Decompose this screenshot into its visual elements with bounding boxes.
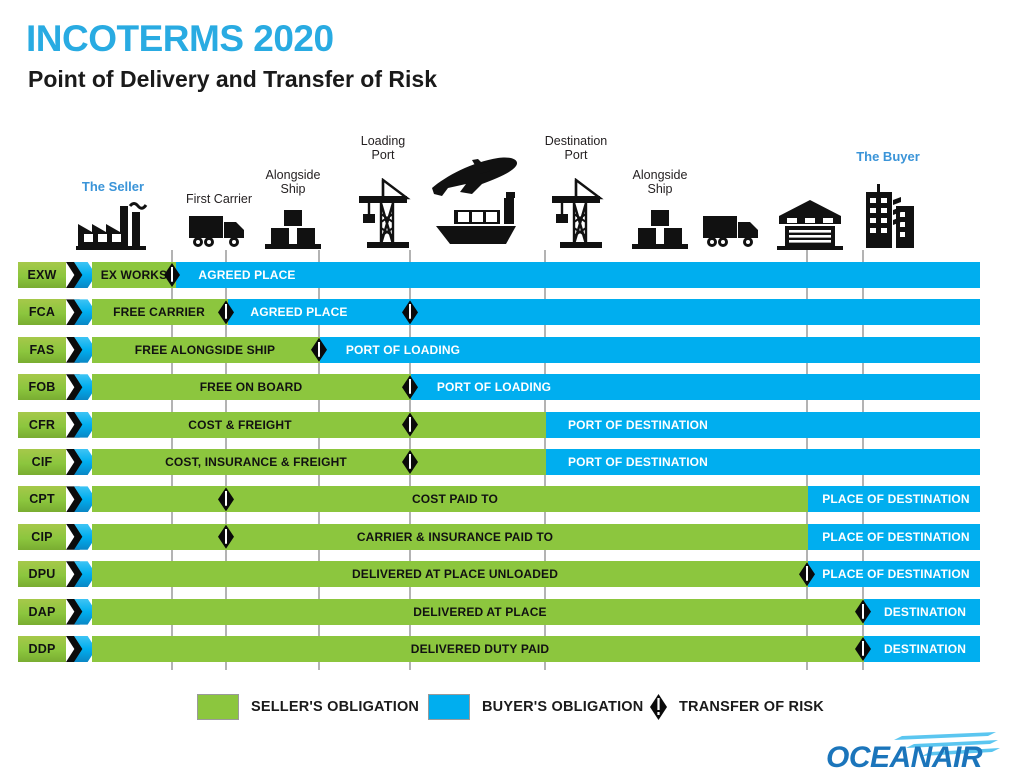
incoterm-code-ddp[interactable]: DDP — [18, 636, 66, 662]
seller-obligation-segment[interactable]: FREE ALONGSIDE SHIP — [92, 337, 320, 363]
buyer-segment-label: DESTINATION — [884, 605, 966, 619]
incoterm-code-exw[interactable]: EXW — [18, 262, 66, 288]
incoterm-row[interactable]: DDPDELIVERED DUTY PAIDDESTINATION — [0, 636, 1024, 662]
buyer-obligation-segment[interactable]: PORT OF LOADING — [320, 337, 980, 363]
incoterm-code-fas[interactable]: FAS — [18, 337, 66, 363]
chain-node-label: The Seller — [53, 180, 173, 195]
legend-label: BUYER'S OBLIGATION — [482, 699, 643, 715]
legend-item-risk: TRANSFER OF RISK — [650, 694, 824, 720]
incoterm-row[interactable]: CPTCOST PAID TOPLACE OF DESTINATION — [0, 486, 1024, 512]
incoterm-code-fca[interactable]: FCA — [18, 299, 66, 325]
incoterm-code-dap[interactable]: DAP — [18, 599, 66, 625]
incoterm-row[interactable]: CIPCARRIER & INSURANCE PAID TOPLACE OF D… — [0, 524, 1024, 550]
seller-segment-label: FREE CARRIER — [113, 305, 205, 319]
incoterm-code-cif[interactable]: CIF — [18, 449, 66, 475]
risk-diamond-icon — [164, 263, 180, 287]
seller-obligation-segment[interactable]: DELIVERED AT PLACE UNLOADED — [92, 561, 808, 587]
buyer-segment-label: PORT OF LOADING — [346, 343, 460, 357]
footer: OCEANAIR — [0, 726, 1024, 777]
risk-diamond-icon — [855, 637, 871, 661]
obligation-bar: DELIVERED AT PLACEDESTINATION — [92, 599, 980, 625]
seller-obligation-segment[interactable]: COST & FREIGHT — [92, 412, 546, 438]
seller-obligation-segment[interactable]: COST PAID TO — [92, 486, 808, 512]
buildings-icon — [828, 184, 948, 250]
buyer-obligation-segment[interactable]: PLACE OF DESTINATION — [808, 524, 980, 550]
risk-diamond-icon — [402, 300, 418, 324]
incoterm-row[interactable]: FOBFREE ON BOARDPORT OF LOADING — [0, 374, 1024, 400]
legend-label: TRANSFER OF RISK — [679, 699, 824, 715]
page-subtitle: Point of Delivery and Transfer of Risk — [28, 68, 437, 91]
factory-icon — [53, 198, 173, 250]
buyer-obligation-segment[interactable]: DESTINATION — [864, 599, 980, 625]
chain-node-label: The Buyer — [828, 150, 948, 165]
chain-node-factory: The Seller — [53, 128, 173, 250]
transfer-of-risk-marker — [402, 300, 418, 324]
incoterm-row[interactable]: CFRCOST & FREIGHTPORT OF DESTINATION — [0, 412, 1024, 438]
buyer-segment-label: PLACE OF DESTINATION — [822, 530, 969, 544]
oceanair-wordmark: OCEANAIR — [826, 741, 982, 775]
obligation-bar: FREE ALONGSIDE SHIPPORT OF LOADING — [92, 337, 980, 363]
buyer-obligation-segment[interactable]: PORT OF DESTINATION — [546, 449, 980, 475]
transfer-of-risk-marker — [855, 637, 871, 661]
buyer-segment-label: AGREED PLACE — [250, 305, 347, 319]
incoterm-code-cfr[interactable]: CFR — [18, 412, 66, 438]
seller-segment-label: COST, INSURANCE & FREIGHT — [165, 455, 347, 469]
buyer-segment-label: AGREED PLACE — [198, 268, 295, 282]
legend-item-blue: BUYER'S OBLIGATION — [428, 694, 643, 720]
transfer-of-risk-marker — [218, 487, 234, 511]
transfer-of-risk-marker — [402, 450, 418, 474]
transfer-of-risk-marker — [402, 413, 418, 437]
buyer-obligation-segment[interactable]: PLACE OF DESTINATION — [808, 561, 980, 587]
buyer-obligation-segment[interactable]: PORT OF DESTINATION — [546, 412, 980, 438]
page-title: INCOTERMS 2020 — [26, 20, 334, 57]
transfer-of-risk-marker — [799, 562, 815, 586]
seller-segment-label: DELIVERED AT PLACE UNLOADED — [352, 567, 558, 581]
buyer-obligation-segment[interactable]: PORT OF LOADING — [411, 374, 980, 400]
risk-diamond-icon — [311, 338, 327, 362]
obligation-bar: COST & FREIGHTPORT OF DESTINATION — [92, 412, 980, 438]
incoterm-code-cip[interactable]: CIP — [18, 524, 66, 550]
chart-legend: SELLER'S OBLIGATIONBUYER'S OBLIGATION TR… — [0, 692, 1024, 726]
transfer-of-risk-marker — [218, 300, 234, 324]
transfer-of-risk-marker — [855, 600, 871, 624]
seller-segment-label: DELIVERED DUTY PAID — [411, 642, 549, 656]
risk-diamond-icon — [218, 525, 234, 549]
transfer-of-risk-marker — [164, 263, 180, 287]
seller-segment-label: CARRIER & INSURANCE PAID TO — [357, 530, 553, 544]
seller-segment-label: FREE ON BOARD — [200, 380, 303, 394]
obligation-bar: DELIVERED AT PLACE UNLOADEDPLACE OF DEST… — [92, 561, 980, 587]
seller-segment-label: EX WORKS — [101, 268, 168, 282]
obligation-bar: FREE ON BOARDPORT OF LOADING — [92, 374, 980, 400]
legend-swatch-green — [197, 694, 239, 720]
seller-segment-label: FREE ALONGSIDE SHIP — [135, 343, 275, 357]
seller-obligation-segment[interactable]: COST, INSURANCE & FREIGHT — [92, 449, 546, 475]
seller-segment-label: COST PAID TO — [412, 492, 498, 506]
buyer-obligation-segment[interactable]: AGREED PLACE — [176, 262, 980, 288]
risk-diamond-icon — [855, 600, 871, 624]
risk-diamond-icon — [402, 450, 418, 474]
obligation-bar: FREE CARRIERAGREED PLACE — [92, 299, 980, 325]
seller-obligation-segment[interactable]: DELIVERED DUTY PAID — [92, 636, 864, 662]
risk-diamond-icon — [650, 694, 667, 720]
legend-label: SELLER'S OBLIGATION — [251, 699, 419, 715]
incoterm-row[interactable]: FASFREE ALONGSIDE SHIPPORT OF LOADING — [0, 337, 1024, 363]
risk-diamond-icon — [402, 413, 418, 437]
buyer-segment-label: PORT OF DESTINATION — [568, 418, 708, 432]
seller-obligation-segment[interactable]: FREE ON BOARD — [92, 374, 411, 400]
risk-diamond-icon — [218, 487, 234, 511]
buyer-obligation-segment[interactable]: AGREED PLACE — [228, 299, 980, 325]
obligation-bar: EX WORKSAGREED PLACE — [92, 262, 980, 288]
seller-segment-label: DELIVERED AT PLACE — [413, 605, 546, 619]
buyer-obligation-segment[interactable]: DESTINATION — [864, 636, 980, 662]
risk-diamond-icon — [799, 562, 815, 586]
buyer-segment-label: PORT OF DESTINATION — [568, 455, 708, 469]
seller-obligation-segment[interactable]: FREE CARRIER — [92, 299, 228, 325]
obligation-bar: COST, INSURANCE & FREIGHTPORT OF DESTINA… — [92, 449, 980, 475]
incoterm-code-dpu[interactable]: DPU — [18, 561, 66, 587]
transfer-of-risk-marker — [311, 338, 327, 362]
transfer-of-risk-marker — [218, 525, 234, 549]
seller-segment-label: COST & FREIGHT — [188, 418, 291, 432]
risk-diamond-icon — [402, 375, 418, 399]
incoterm-row[interactable]: DPUDELIVERED AT PLACE UNLOADEDPLACE OF D… — [0, 561, 1024, 587]
incoterm-code-cpt[interactable]: CPT — [18, 486, 66, 512]
obligation-bar: CARRIER & INSURANCE PAID TOPLACE OF DEST… — [92, 524, 980, 550]
chain-node-buildings: The Buyer — [828, 128, 948, 250]
obligation-bar: DELIVERED DUTY PAIDDESTINATION — [92, 636, 980, 662]
risk-diamond-icon — [218, 300, 234, 324]
buyer-segment-label: DESTINATION — [884, 642, 966, 656]
incoterm-code-fob[interactable]: FOB — [18, 374, 66, 400]
incoterm-row[interactable]: DAPDELIVERED AT PLACEDESTINATION — [0, 599, 1024, 625]
seller-obligation-segment[interactable]: CARRIER & INSURANCE PAID TO — [92, 524, 808, 550]
seller-obligation-segment[interactable]: DELIVERED AT PLACE — [92, 599, 864, 625]
buyer-segment-label: PLACE OF DESTINATION — [822, 567, 969, 581]
buyer-segment-label: PORT OF LOADING — [437, 380, 551, 394]
obligation-bar: COST PAID TOPLACE OF DESTINATION — [92, 486, 980, 512]
legend-item-green: SELLER'S OBLIGATION — [197, 694, 419, 720]
incoterm-row[interactable]: FCAFREE CARRIERAGREED PLACE — [0, 299, 1024, 325]
infographic-canvas: INCOTERMS 2020 Point of Delivery and Tra… — [0, 0, 1024, 777]
legend-swatch-blue — [428, 694, 470, 720]
buyer-obligation-segment[interactable]: PLACE OF DESTINATION — [808, 486, 980, 512]
oceanair-logo: OCEANAIR — [826, 728, 1006, 776]
incoterm-row[interactable]: EXWEX WORKSAGREED PLACE — [0, 262, 1024, 288]
incoterm-row[interactable]: CIFCOST, INSURANCE & FREIGHTPORT OF DEST… — [0, 449, 1024, 475]
buyer-segment-label: PLACE OF DESTINATION — [822, 492, 969, 506]
supply-chain-icon-strip: The Seller First Carrier Alongside Ship … — [0, 128, 1024, 250]
transfer-of-risk-marker — [402, 375, 418, 399]
